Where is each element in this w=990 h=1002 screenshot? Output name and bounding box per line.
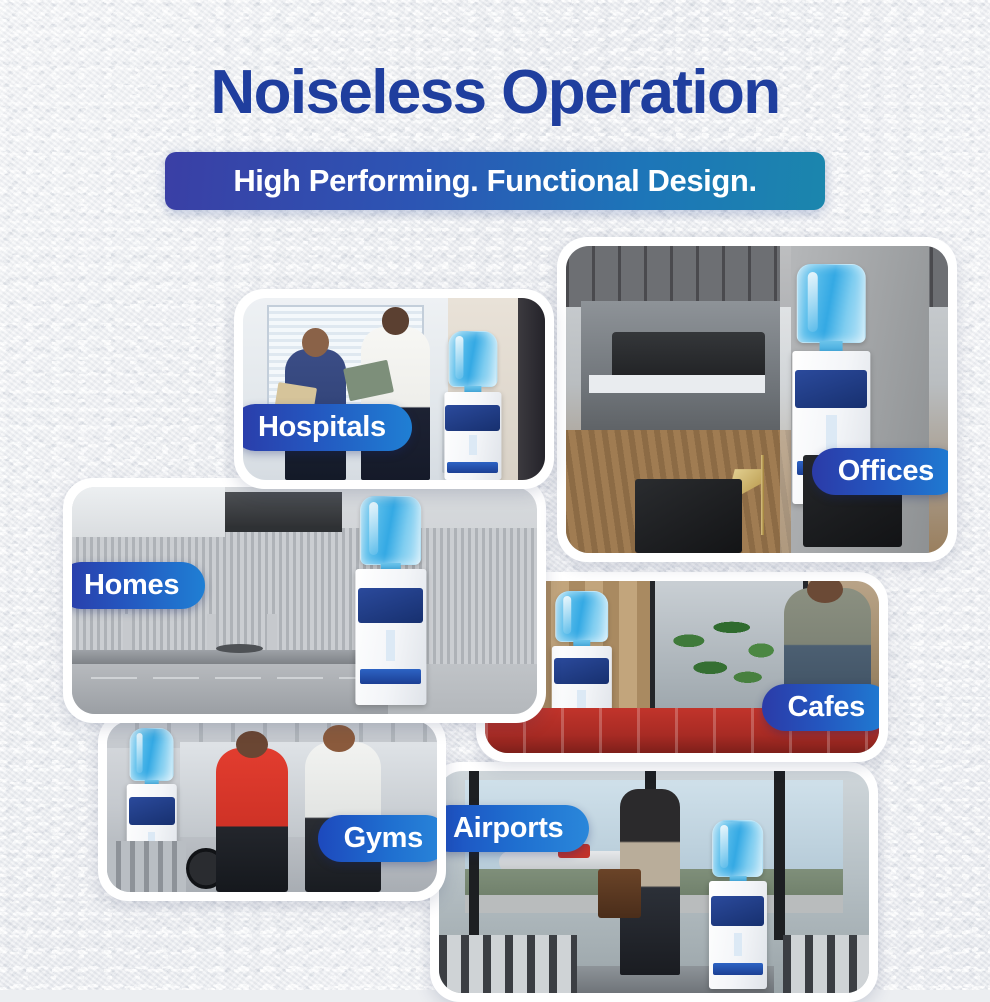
water-dispenser-icon: [439, 331, 505, 480]
photo-offices: Offices: [566, 246, 948, 553]
kitchen-faucet-right: [267, 614, 276, 650]
hospital-curtain: [518, 298, 545, 480]
water-dispenser-icon: [706, 820, 771, 989]
kitchen-base-cabinets: [72, 664, 388, 714]
scene-hospital: [243, 298, 545, 480]
gym-person-left: [216, 748, 289, 892]
terminal-seats-right: [783, 935, 869, 993]
window-mullion-left: [469, 771, 479, 940]
kitchen-faucet-mid: [207, 614, 216, 650]
photo-hospitals: Hospitals: [243, 298, 545, 480]
header: Noiseless Operation High Performing. Fun…: [0, 0, 990, 210]
scene-office: [566, 246, 948, 553]
office-monitor-left: [635, 479, 742, 553]
kitchen-upper-cabinet: [72, 487, 225, 537]
window-mullion-right: [774, 771, 784, 940]
label-text-cafes: Cafes: [788, 691, 866, 724]
label-pill-offices[interactable]: Offices: [812, 448, 948, 495]
photo-airports: Airports: [439, 771, 869, 993]
label-pill-cafes[interactable]: Cafes: [762, 684, 880, 731]
label-pill-airports[interactable]: Airports: [439, 805, 589, 852]
collage-card-homes[interactable]: Homes: [63, 478, 546, 723]
collage-card-gyms[interactable]: Gyms: [98, 712, 446, 901]
subtitle-banner: High Performing. Functional Design.: [165, 152, 825, 210]
kitchen-shelf: [225, 526, 341, 533]
photo-gyms: Gyms: [107, 721, 437, 892]
shoulder-bag: [598, 869, 641, 918]
collage-card-offices[interactable]: Offices: [557, 237, 957, 562]
collage-card-hospitals[interactable]: Hospitals: [234, 289, 554, 489]
scene-gym: [107, 721, 437, 892]
label-pill-hospitals[interactable]: Hospitals: [243, 404, 412, 451]
subtitle-text: High Performing. Functional Design.: [233, 163, 756, 199]
kitchen-plate: [216, 644, 263, 653]
label-text-offices: Offices: [838, 455, 934, 488]
photo-homes: Homes: [72, 487, 537, 714]
label-pill-homes[interactable]: Homes: [72, 562, 205, 609]
water-dispenser-icon: [351, 496, 430, 705]
kitchen-faucet-left: [123, 614, 132, 650]
page-title: Noiseless Operation: [0, 0, 990, 124]
gym-dumbbell-rack: [107, 841, 186, 892]
label-pill-gyms[interactable]: Gyms: [318, 815, 437, 862]
terminal-seats-left: [439, 935, 577, 993]
office-desk: [589, 375, 765, 393]
label-text-homes: Homes: [84, 569, 179, 602]
kitchen-range-hood: [225, 492, 341, 526]
office-chairs: [612, 332, 765, 381]
label-text-airports: Airports: [453, 812, 563, 845]
collage-card-airports[interactable]: Airports: [430, 762, 878, 1002]
lamp-stem: [761, 455, 765, 535]
label-text-hospitals: Hospitals: [258, 411, 386, 444]
label-text-gyms: Gyms: [344, 822, 423, 855]
